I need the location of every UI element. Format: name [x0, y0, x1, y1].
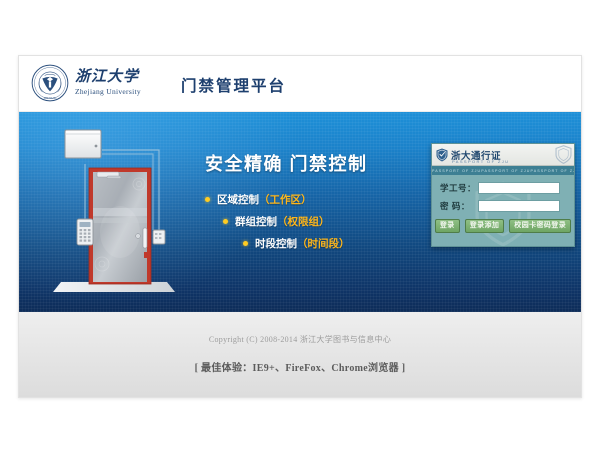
login-panel: 浙大通行证 PASSPORT OF ZJU PASSPORT OF ZJU PA… — [431, 143, 575, 247]
hero-headline: 安全精确 门禁控制 — [205, 150, 415, 176]
site-footer: Copyright (C) 2008-2014 浙江大学图书与信息中心 [ 最佳… — [19, 312, 581, 398]
shield-watermark-icon — [555, 145, 572, 164]
login-form: 学工号： 密 码： 登录 登录添加 校园卡密码登录 — [432, 175, 574, 247]
feature-label: 时段控制 — [255, 236, 297, 251]
feature-accent: （工作区） — [259, 192, 312, 207]
password-input[interactable] — [478, 200, 560, 212]
feature-item-area-control: 区域控制 （工作区） — [205, 192, 415, 207]
feature-accent: （时间段） — [297, 236, 350, 251]
brand-block[interactable]: ZHEJIANG 浙江大学 Zhejiang University — [31, 64, 141, 102]
bullet-dot-icon — [205, 197, 210, 202]
svg-text:ZHEJIANG: ZHEJIANG — [44, 97, 57, 100]
field-row-password: 密 码： — [440, 200, 574, 212]
password-label: 密 码： — [440, 200, 478, 212]
footer-copyright: Copyright (C) 2008-2014 浙江大学图书与信息中心 — [19, 312, 581, 345]
bullet-dot-icon — [223, 219, 228, 224]
footer-browser-support: [ 最佳体验：IE9+、FireFox、Chrome浏览器 ] — [19, 359, 581, 374]
hero-copy: 安全精确 门禁控制 区域控制 （工作区） 群组控制 （权限组） 时段控制 （时间… — [205, 150, 415, 258]
feature-label: 区域控制 — [217, 192, 259, 207]
strip-word: PASSPORT OF ZJU — [481, 169, 530, 173]
zju-seal-icon: ZHEJIANG — [31, 64, 69, 102]
brand-name-cn: 浙江大学 — [75, 70, 141, 85]
site-header: ZHEJIANG 浙江大学 Zhejiang University 门禁管理平台 — [19, 56, 581, 112]
brand-name-en: Zhejiang University — [75, 88, 141, 96]
strip-word: PASSPORT OF ZJU — [432, 169, 481, 173]
userid-input[interactable] — [478, 182, 560, 194]
brand-text: 浙江大学 Zhejiang University — [75, 70, 141, 96]
bullet-dot-icon — [243, 241, 248, 246]
login-panel-header: 浙大通行证 PASSPORT OF ZJU — [432, 144, 574, 166]
feature-item-time-control: 时段控制 （时间段） — [243, 236, 415, 251]
campus-card-login-button[interactable]: 校园卡密码登录 — [509, 219, 571, 233]
field-row-userid: 学工号： — [440, 182, 574, 194]
page-card: ZHEJIANG 浙江大学 Zhejiang University 门禁管理平台 — [18, 55, 582, 398]
hero-banner: 安全精确 门禁控制 区域控制 （工作区） 群组控制 （权限组） 时段控制 （时间… — [19, 112, 581, 312]
shield-icon — [436, 148, 448, 162]
login-title-en: PASSPORT OF ZJU — [452, 159, 509, 164]
login-button[interactable]: 登录 — [435, 219, 460, 233]
feature-list: 区域控制 （工作区） 群组控制 （权限组） 时段控制 （时间段） — [205, 192, 415, 251]
login-button-row: 登录 登录添加 校园卡密码登录 — [432, 219, 574, 233]
feature-item-group-control: 群组控制 （权限组） — [223, 214, 415, 229]
strip-word: PASSPORT OF ZJU — [531, 169, 575, 173]
access-control-door-illustration — [47, 124, 197, 304]
feature-label: 群组控制 — [235, 214, 277, 229]
page-title: 门禁管理平台 — [181, 74, 286, 96]
userid-label: 学工号： — [440, 182, 478, 194]
passport-watermark-strip: PASSPORT OF ZJU PASSPORT OF ZJU PASSPORT… — [432, 166, 574, 175]
login-add-button[interactable]: 登录添加 — [465, 219, 505, 233]
feature-accent: （权限组） — [277, 214, 330, 229]
